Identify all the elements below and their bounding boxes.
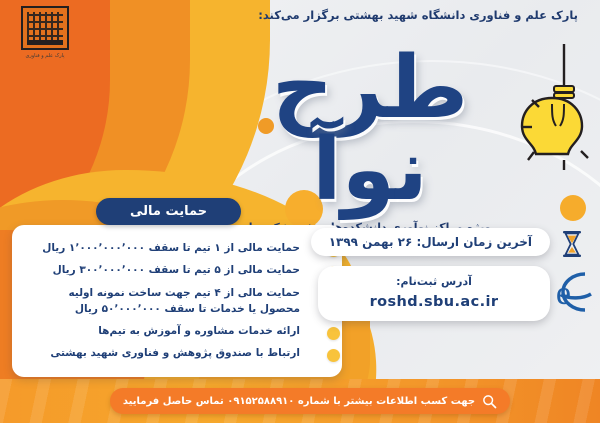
event-kicker: پارک علم و فناوری دانشگاه شهید بهشتی برگ… [258, 8, 578, 22]
list-item-label: ارتباط با صندوق پژوهش و فناوری شهید بهشت… [50, 347, 300, 359]
list-item-label: حمایت مالی از ۱ تیم تا سقف ۱٬۰۰۰٬۰۰۰٬۰۰۰… [42, 242, 300, 254]
registration-box: آدرس ثبت‌نام: roshd.sbu.ac.ir [318, 266, 550, 321]
support-list: حمایت مالی از ۱ تیم تا سقف ۱٬۰۰۰٬۰۰۰٬۰۰۰… [26, 237, 316, 365]
list-item-label: حمایت مالی از ۵ تیم تا سقف ۳۰۰٬۰۰۰٬۰۰۰ ر… [53, 264, 300, 276]
hero-block: طرح نوآ ویژه مراکز نوآوری دانشکده‌ها و پ… [200, 48, 540, 234]
list-item: حمایت مالی از ۴ تیم جهت ساخت نمونه اولیه… [26, 282, 316, 321]
support-list-card: حمایت مالی از ۱ تیم تا سقف ۱٬۰۰۰٬۰۰۰٬۰۰۰… [12, 225, 342, 377]
sbu-logo-caption: پارک علم و فناوری [14, 53, 76, 59]
contact-bar: جهت کسب اطلاعات بیشتر با شماره ۰۹۱۵۲۵۸۸۹… [110, 388, 510, 414]
magnifier-icon [482, 394, 497, 409]
list-item: حمایت مالی از ۱ تیم تا سقف ۱٬۰۰۰٬۰۰۰٬۰۰۰… [26, 237, 316, 259]
hourglass-icon [560, 230, 584, 258]
sbu-logo-mark [21, 6, 69, 50]
registration-label: آدرس ثبت‌نام: [340, 275, 528, 288]
registration-url[interactable]: roshd.sbu.ac.ir [340, 294, 528, 310]
bullet-dot-icon [327, 327, 340, 340]
list-item-label: ارائه خدمات مشاوره و آموزش به تیم‌ها [98, 325, 300, 337]
financial-support-badge: حمایت مالی [96, 198, 241, 225]
list-item: ارتباط با صندوق پژوهش و فناوری شهید بهشت… [26, 342, 316, 364]
list-item-label: حمایت مالی از ۴ تیم جهت ساخت نمونه اولیه… [68, 287, 300, 315]
bullet-dot-icon [327, 349, 340, 362]
contact-text: جهت کسب اطلاعات بیشتر با شماره ۰۹۱۵۲۵۸۸۹… [123, 396, 475, 407]
internet-explorer-icon: e [551, 268, 595, 316]
list-item: ارائه خدمات مشاوره و آموزش به تیم‌ها [26, 320, 316, 342]
deadline-box: آخرین زمان ارسال: ۲۶ بهمن ۱۳۹۹ [311, 228, 550, 256]
list-item: حمایت مالی از ۵ تیم تا سقف ۳۰۰٬۰۰۰٬۰۰۰ ر… [26, 259, 316, 281]
page-title: طرح نوآ [200, 48, 540, 211]
svg-text:e: e [556, 275, 571, 312]
poster-canvas: پارک علم و فناوری پارک علم و فناوری دانش… [0, 0, 600, 423]
sbu-logo: پارک علم و فناوری [14, 6, 76, 64]
